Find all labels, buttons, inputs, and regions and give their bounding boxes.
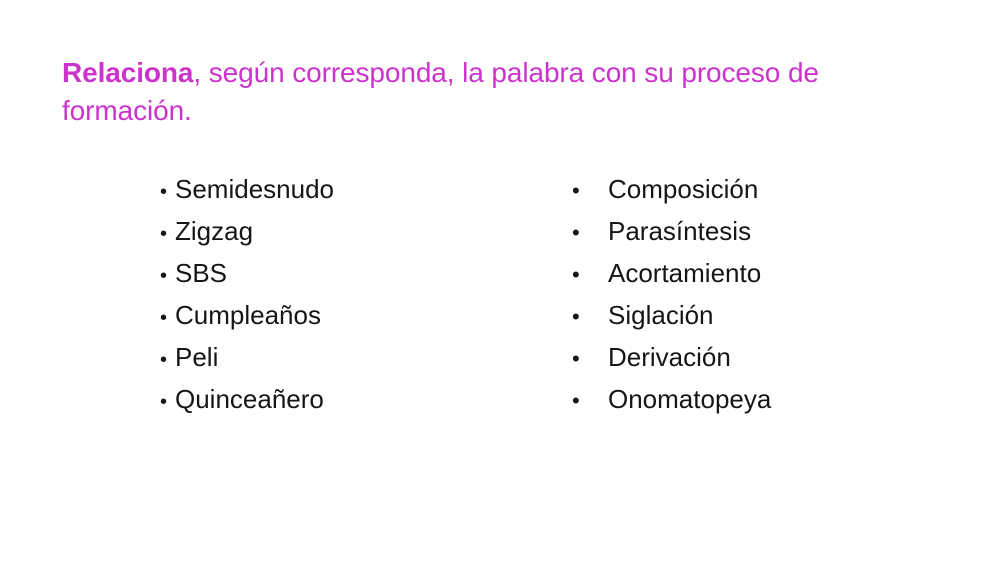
list-item[interactable]: • Acortamiento (572, 252, 972, 294)
list-item[interactable]: • Onomatopeya (572, 378, 972, 420)
list-item[interactable]: • Semidesnudo (160, 168, 540, 210)
list-item-label: Siglación (608, 294, 972, 336)
list-item-label: Semidesnudo (175, 168, 540, 210)
list-item-label: Quinceañero (175, 378, 540, 420)
list-item[interactable]: • Zigzag (160, 210, 540, 252)
bullet-icon: • (160, 213, 175, 255)
bullet-icon: • (572, 380, 608, 422)
list-item[interactable]: • Quinceañero (160, 378, 540, 420)
left-column-words: • Semidesnudo • Zigzag • SBS • Cumpleaño… (160, 168, 540, 420)
bullet-columns: • Semidesnudo • Zigzag • SBS • Cumpleaño… (0, 168, 1000, 428)
list-item[interactable]: • Cumpleaños (160, 294, 540, 336)
list-item-label: Derivación (608, 336, 972, 378)
list-item-label: Cumpleaños (175, 294, 540, 336)
bullet-icon: • (572, 296, 608, 338)
list-item-label: Parasíntesis (608, 210, 972, 252)
list-item[interactable]: • Siglación (572, 294, 972, 336)
bullet-icon: • (572, 212, 608, 254)
list-item[interactable]: • Composición (572, 168, 972, 210)
right-column-processes: • Composición • Parasíntesis • Acortamie… (572, 168, 972, 420)
list-item-label: Acortamiento (608, 252, 972, 294)
list-item-label: Composición (608, 168, 972, 210)
list-item-label: Zigzag (175, 210, 540, 252)
bullet-icon: • (572, 254, 608, 296)
page-title: Relaciona, según corresponda, la palabra… (62, 54, 922, 130)
list-item[interactable]: • SBS (160, 252, 540, 294)
bullet-icon: • (572, 338, 608, 380)
bullet-icon: • (572, 170, 608, 212)
page-title-emphasis: Relaciona (62, 57, 193, 88)
list-item[interactable]: • Peli (160, 336, 540, 378)
list-item-label: Onomatopeya (608, 378, 972, 420)
slide-canvas: Relaciona, según corresponda, la palabra… (0, 0, 1000, 563)
list-item[interactable]: • Derivación (572, 336, 972, 378)
bullet-icon: • (160, 297, 175, 339)
list-item[interactable]: • Parasíntesis (572, 210, 972, 252)
bullet-icon: • (160, 381, 175, 423)
bullet-icon: • (160, 339, 175, 381)
list-item-label: SBS (175, 252, 540, 294)
bullet-icon: • (160, 171, 175, 213)
bullet-icon: • (160, 255, 175, 297)
list-item-label: Peli (175, 336, 540, 378)
